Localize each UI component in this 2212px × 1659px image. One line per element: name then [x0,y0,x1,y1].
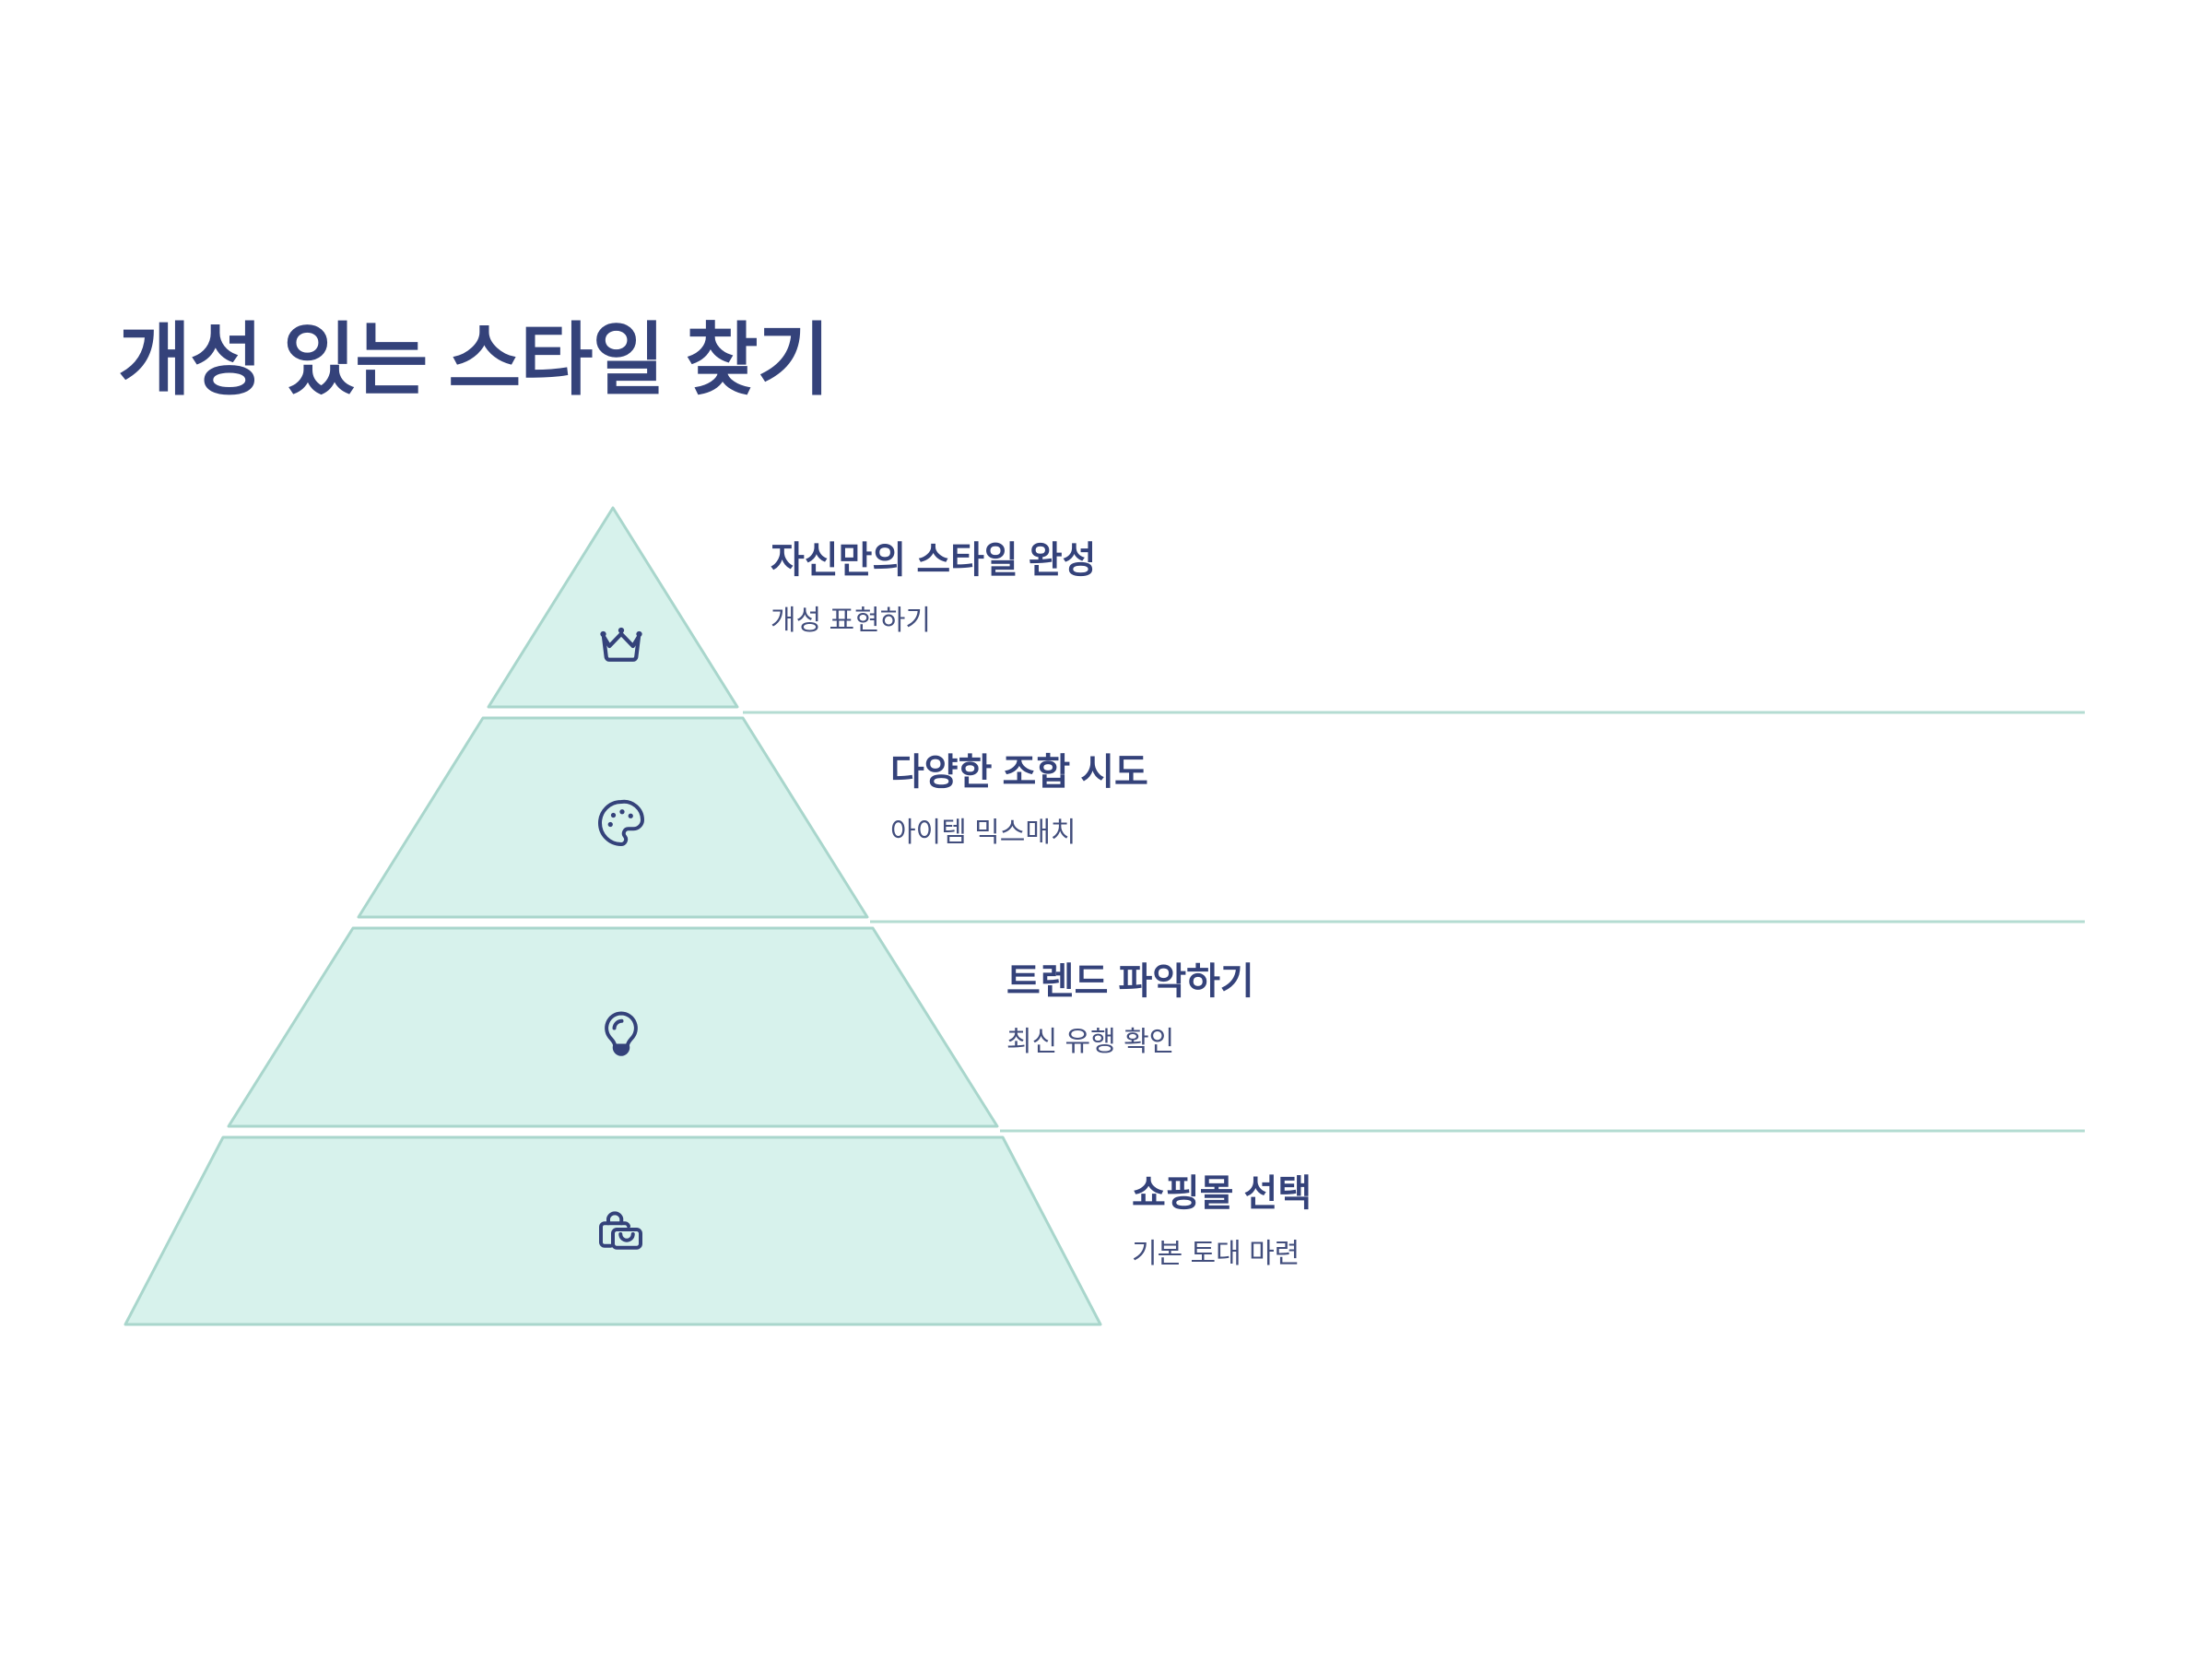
slide-canvas: 개성 있는 스타일 찾기 [0,0,2212,1659]
crown-icon [584,608,658,682]
level-1-subtitle: 개성 표현하기 [771,606,1096,638]
level-3-heading: 트렌드 파악하기 [1006,960,1254,1003]
page-title: 개성 있는 스타일 찾기 [118,321,829,400]
shopping-bag-icon [584,1198,658,1272]
level-3-subtitle: 최신 유행 확인 [1006,1027,1254,1059]
level-2-heading: 다양한 조합 시도 [890,751,1148,794]
palette-icon [584,786,658,860]
pyramid-level-3-text: 트렌드 파악하기 최신 유행 확인 [1006,960,1254,1059]
pyramid-level-2-text: 다양한 조합 시도 아이템 믹스매치 [890,751,1148,850]
lightbulb-icon [584,998,658,1072]
pyramid-level-1-text: 자신만의 스타일 완성 개성 표현하기 [771,539,1096,638]
pyramid-level-4-text: 쇼핑몰 선택 기본 토대 마련 [1132,1172,1312,1271]
level-4-subtitle: 기본 토대 마련 [1132,1239,1312,1271]
level-1-heading: 자신만의 스타일 완성 [771,539,1096,582]
level-4-heading: 쇼핑몰 선택 [1132,1172,1312,1215]
level-2-subtitle: 아이템 믹스매치 [890,818,1148,850]
